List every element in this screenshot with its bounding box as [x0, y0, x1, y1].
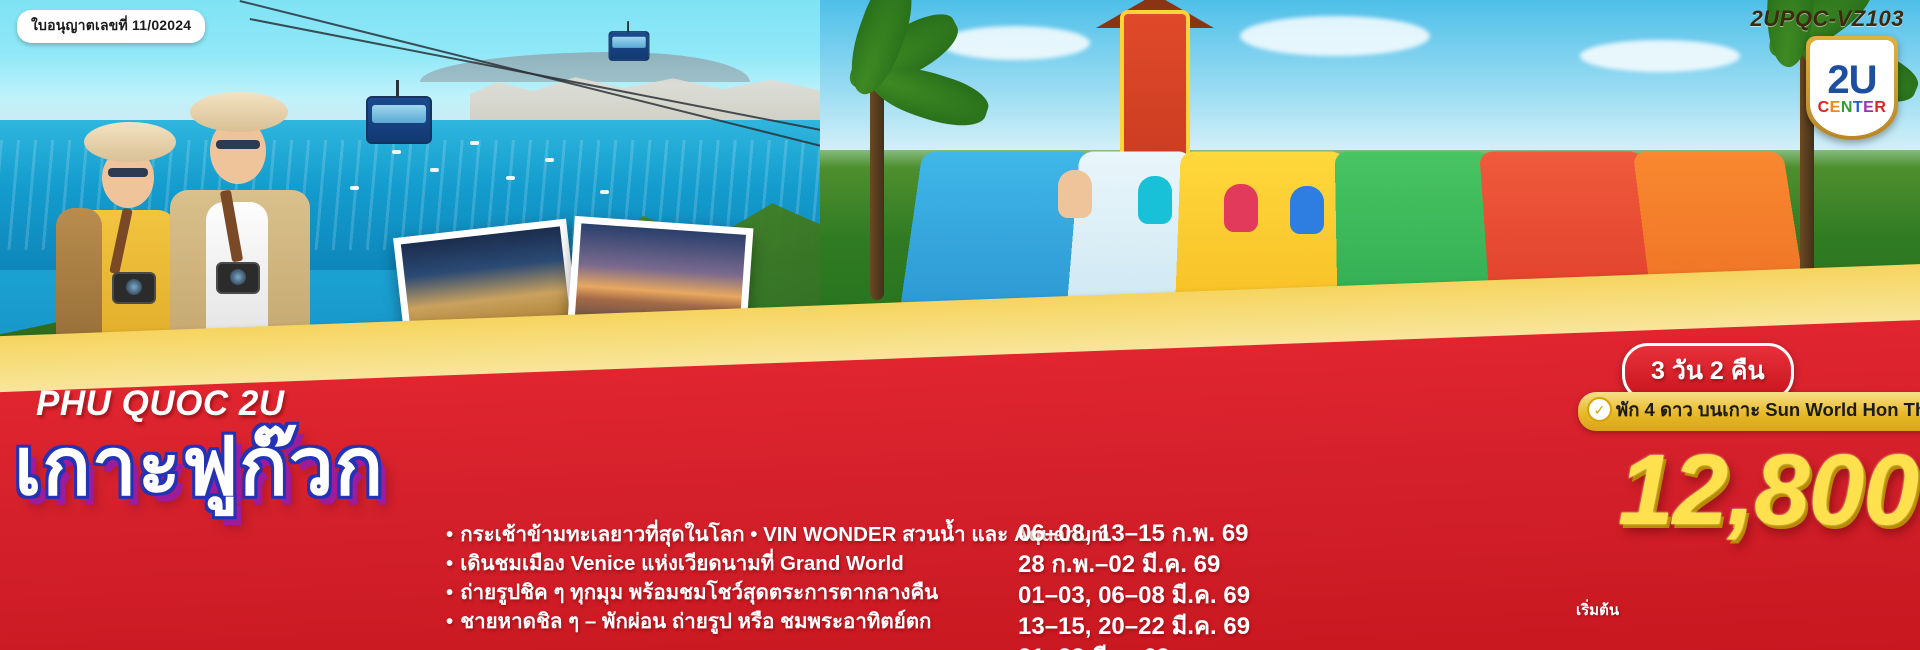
highlight-item: ชายหาดชิล ๆ – พักผ่อน ถ่ายรูป หรือ ชมพระ… — [446, 607, 1110, 636]
boat-icon — [545, 158, 554, 162]
price-prefix: เริ่มต้น — [1576, 598, 1619, 622]
departure-date-list: 06–08, 13–15 ก.พ. 69 28 ก.พ.–02 มี.ค. 69… — [1018, 518, 1250, 650]
logo-letter-n: N — [1841, 99, 1853, 116]
highlight-item: เดินชมเมือง Venice แห่งเวียดนามที่ Grand… — [446, 549, 1110, 578]
logo-mark-text: 2U — [1827, 61, 1876, 99]
logo-center-text: CENTER — [1818, 100, 1887, 116]
hotel-badge-label: พัก 4 ดาว บนเกาะ Sun World Hon Thom — [1616, 399, 1920, 420]
boat-icon — [350, 186, 359, 190]
price-amount: 12,800 — [1618, 440, 1918, 540]
highlight-item: กระเช้าข้ามทะเลยาวที่สุดในโลก • VIN WOND… — [446, 520, 1110, 549]
logo-letter-e2: E — [1863, 99, 1874, 116]
cloud — [1240, 16, 1430, 56]
brand-title-th: เกาะฟูก๊วก — [14, 420, 384, 514]
boat-icon — [392, 150, 401, 154]
boat-icon — [430, 168, 439, 172]
check-circle-icon: ✓ — [1587, 397, 1612, 422]
cable-car-cabin — [609, 31, 650, 61]
logo-letter-c: C — [1818, 99, 1830, 116]
cloud — [940, 26, 1090, 60]
license-badge: ใบอนุญาตเลขที่ 11/02024 — [17, 10, 205, 43]
boat-icon — [470, 141, 479, 145]
logo-letter-e1: E — [1830, 99, 1841, 116]
boat-icon — [600, 190, 609, 194]
tour-code: 2UPQC-VZ103 — [1751, 6, 1904, 32]
brand-title-en: PHU QUOC 2U — [36, 384, 285, 424]
rider-person — [1224, 184, 1258, 232]
rider-person — [1138, 176, 1172, 224]
highlight-list: กระเช้าข้ามทะเลยาวที่สุดในโลก • VIN WOND… — [446, 520, 1110, 636]
departure-date: 01–03, 06–08 มี.ค. 69 — [1018, 580, 1250, 611]
boat-icon — [506, 176, 515, 180]
rider-person — [1290, 186, 1324, 234]
departure-date: 28 ก.พ.–02 มี.ค. 69 — [1018, 549, 1250, 580]
departure-date: 06–08, 13–15 ก.พ. 69 — [1018, 518, 1250, 549]
promo-banner: ใบอนุญาตเลขที่ 11/02024 2UPQC-VZ103 2U C… — [0, 0, 1920, 650]
departure-date: 21–23 มี.ค. 69 — [1018, 642, 1250, 650]
logo-shield-inner: 2U CENTER — [1810, 40, 1894, 136]
cable-car-cabin — [366, 96, 432, 144]
departure-date: 13–15, 20–22 มี.ค. 69 — [1018, 611, 1250, 642]
rider-person — [1058, 170, 1092, 218]
hotel-badge: ✓ พัก 4 ดาว บนเกาะ Sun World Hon Thom — [1578, 392, 1920, 431]
logo-letter-t: T — [1853, 99, 1863, 116]
logo-letter-r: R — [1874, 99, 1886, 116]
cloud — [1580, 40, 1740, 72]
brand-logo-2u-center[interactable]: 2U CENTER — [1806, 36, 1898, 140]
highlight-item: ถ่ายรูปชิค ๆ ทุกมุม พร้อมชมโชว์สุดตระการ… — [446, 578, 1110, 607]
